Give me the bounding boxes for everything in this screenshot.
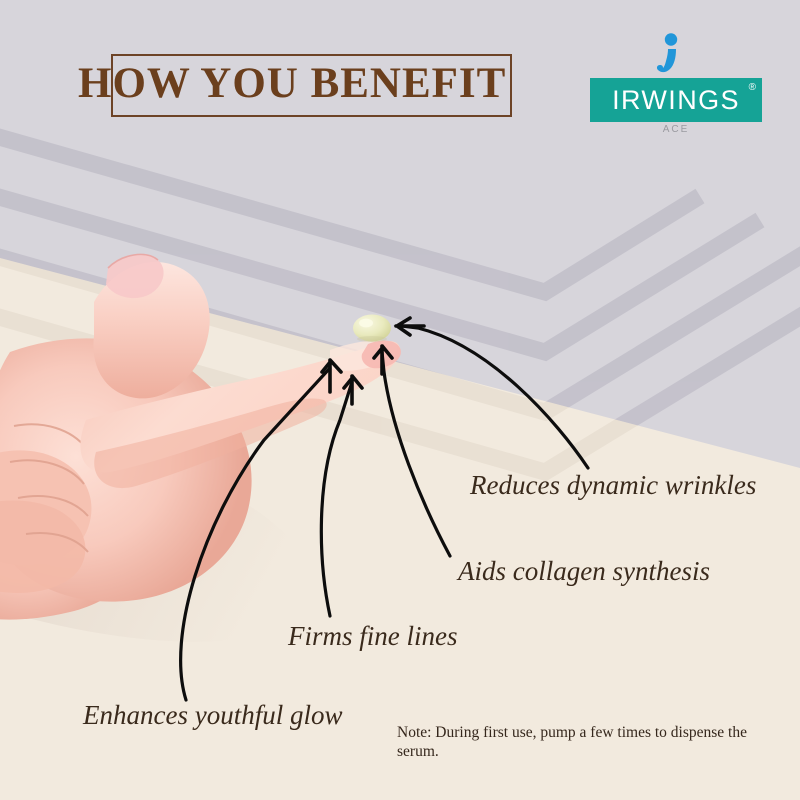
callout-label-firms: Firms fine lines bbox=[288, 621, 458, 652]
usage-note: Note: During first use, pump a few times… bbox=[397, 723, 757, 761]
logo-sub-label: ACE bbox=[590, 124, 762, 135]
page-title: HOW YOU BENEFIT bbox=[78, 58, 506, 110]
logo-wordmark: IRWINGS bbox=[590, 78, 762, 122]
callout-label-collagen: Aids collagen synthesis bbox=[458, 556, 710, 587]
callout-label-wrinkles: Reduces dynamic wrinkles bbox=[470, 470, 756, 501]
registered-trademark-icon: ® bbox=[749, 82, 756, 93]
infographic-canvas: HOW YOU BENEFIT IRWINGS ® ACE Reduces dy… bbox=[0, 0, 800, 800]
serum-droplet bbox=[353, 315, 391, 343]
callout-label-glow: Enhances youthful glow bbox=[83, 700, 342, 731]
brand-logo: IRWINGS ® ACE bbox=[590, 32, 762, 140]
stylized-i-icon bbox=[645, 32, 695, 78]
